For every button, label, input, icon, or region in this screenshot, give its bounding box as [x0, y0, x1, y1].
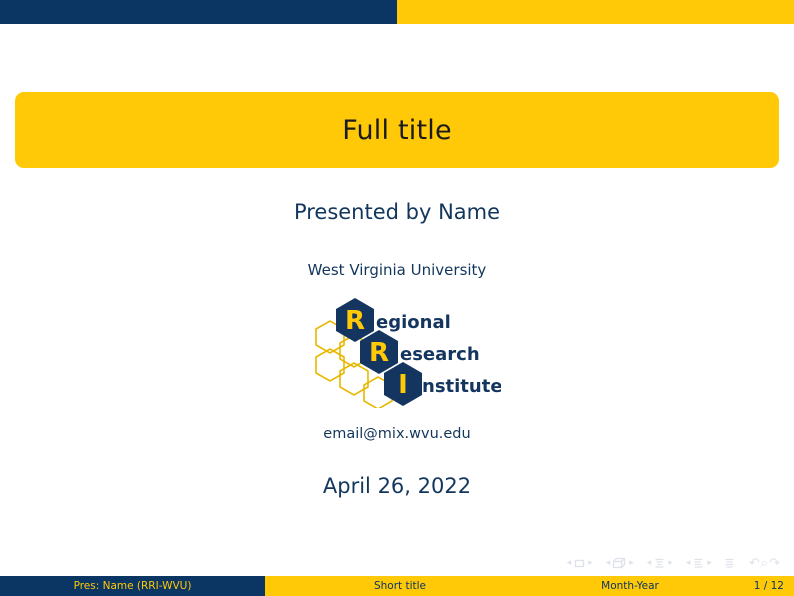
nav-section-next-icon[interactable]: ▸	[705, 559, 714, 568]
slide-title: Full title	[342, 115, 452, 146]
footer-page-number: 1 / 12	[754, 580, 784, 592]
nav-group-section[interactable]: ◂ ▸	[684, 557, 714, 570]
subsection-icon[interactable]	[653, 557, 666, 570]
nav-find-icon[interactable]: ⌕	[761, 556, 768, 571]
nav-slide-prev-icon[interactable]: ◂	[565, 559, 574, 568]
document-icon[interactable]	[723, 557, 736, 570]
footer-gold-section: Short title Month-Year 1 / 12	[265, 576, 794, 596]
nav-group-history[interactable]: ↶ ⌕ ↷	[749, 556, 780, 571]
logo-letter-r2: R	[369, 338, 389, 368]
frame-icon[interactable]	[612, 557, 627, 570]
top-bar-navy-segment	[0, 0, 397, 24]
beamer-navigation-symbols[interactable]: ◂ ▸ ◂ ▸ ◂ ▸ ◂ ▸	[565, 553, 780, 573]
contact-email[interactable]: email@mix.wvu.edu	[0, 426, 794, 442]
nav-group-subsection[interactable]: ◂ ▸	[645, 557, 675, 570]
author-name: Presented by Name	[0, 200, 794, 224]
footer-short-title: Short title	[265, 580, 535, 592]
section-icon[interactable]	[692, 557, 705, 570]
slide-date: April 26, 2022	[0, 474, 794, 498]
footer-date: Month-Year	[555, 580, 705, 592]
nav-group-slide[interactable]: ◂ ▸	[565, 557, 595, 570]
nav-group-frame[interactable]: ◂ ▸	[604, 557, 636, 570]
title-banner: Full title	[15, 92, 779, 168]
nav-back-icon[interactable]: ↶	[749, 556, 760, 571]
nav-subsection-next-icon[interactable]: ▸	[666, 559, 675, 568]
nav-frame-prev-icon[interactable]: ◂	[604, 559, 613, 568]
logo-word-research: esearch	[400, 344, 480, 365]
institute-name: West Virginia University	[0, 261, 794, 279]
logo-letter-i: I	[398, 370, 408, 400]
nav-group-document[interactable]	[723, 557, 736, 570]
footer-author: Pres: Name (RRI-WVU)	[0, 576, 265, 596]
top-bar-gold-segment	[397, 0, 794, 24]
nav-frame-next-icon[interactable]: ▸	[627, 559, 636, 568]
slide-icon[interactable]	[573, 557, 586, 570]
nav-subsection-prev-icon[interactable]: ◂	[645, 559, 654, 568]
slide-footer: Pres: Name (RRI-WVU) Short title Month-Y…	[0, 576, 794, 596]
nav-forward-icon[interactable]: ↷	[769, 556, 780, 571]
logo-letter-r1: R	[345, 306, 365, 336]
nav-slide-next-icon[interactable]: ▸	[586, 559, 595, 568]
top-decoration-bar	[0, 0, 794, 24]
nav-section-prev-icon[interactable]: ◂	[684, 559, 693, 568]
logo-word-regional: egional	[376, 312, 451, 333]
logo-word-institute: nstitute	[422, 376, 501, 397]
rri-logo: R R I egional esearch nstitute	[306, 296, 501, 408]
